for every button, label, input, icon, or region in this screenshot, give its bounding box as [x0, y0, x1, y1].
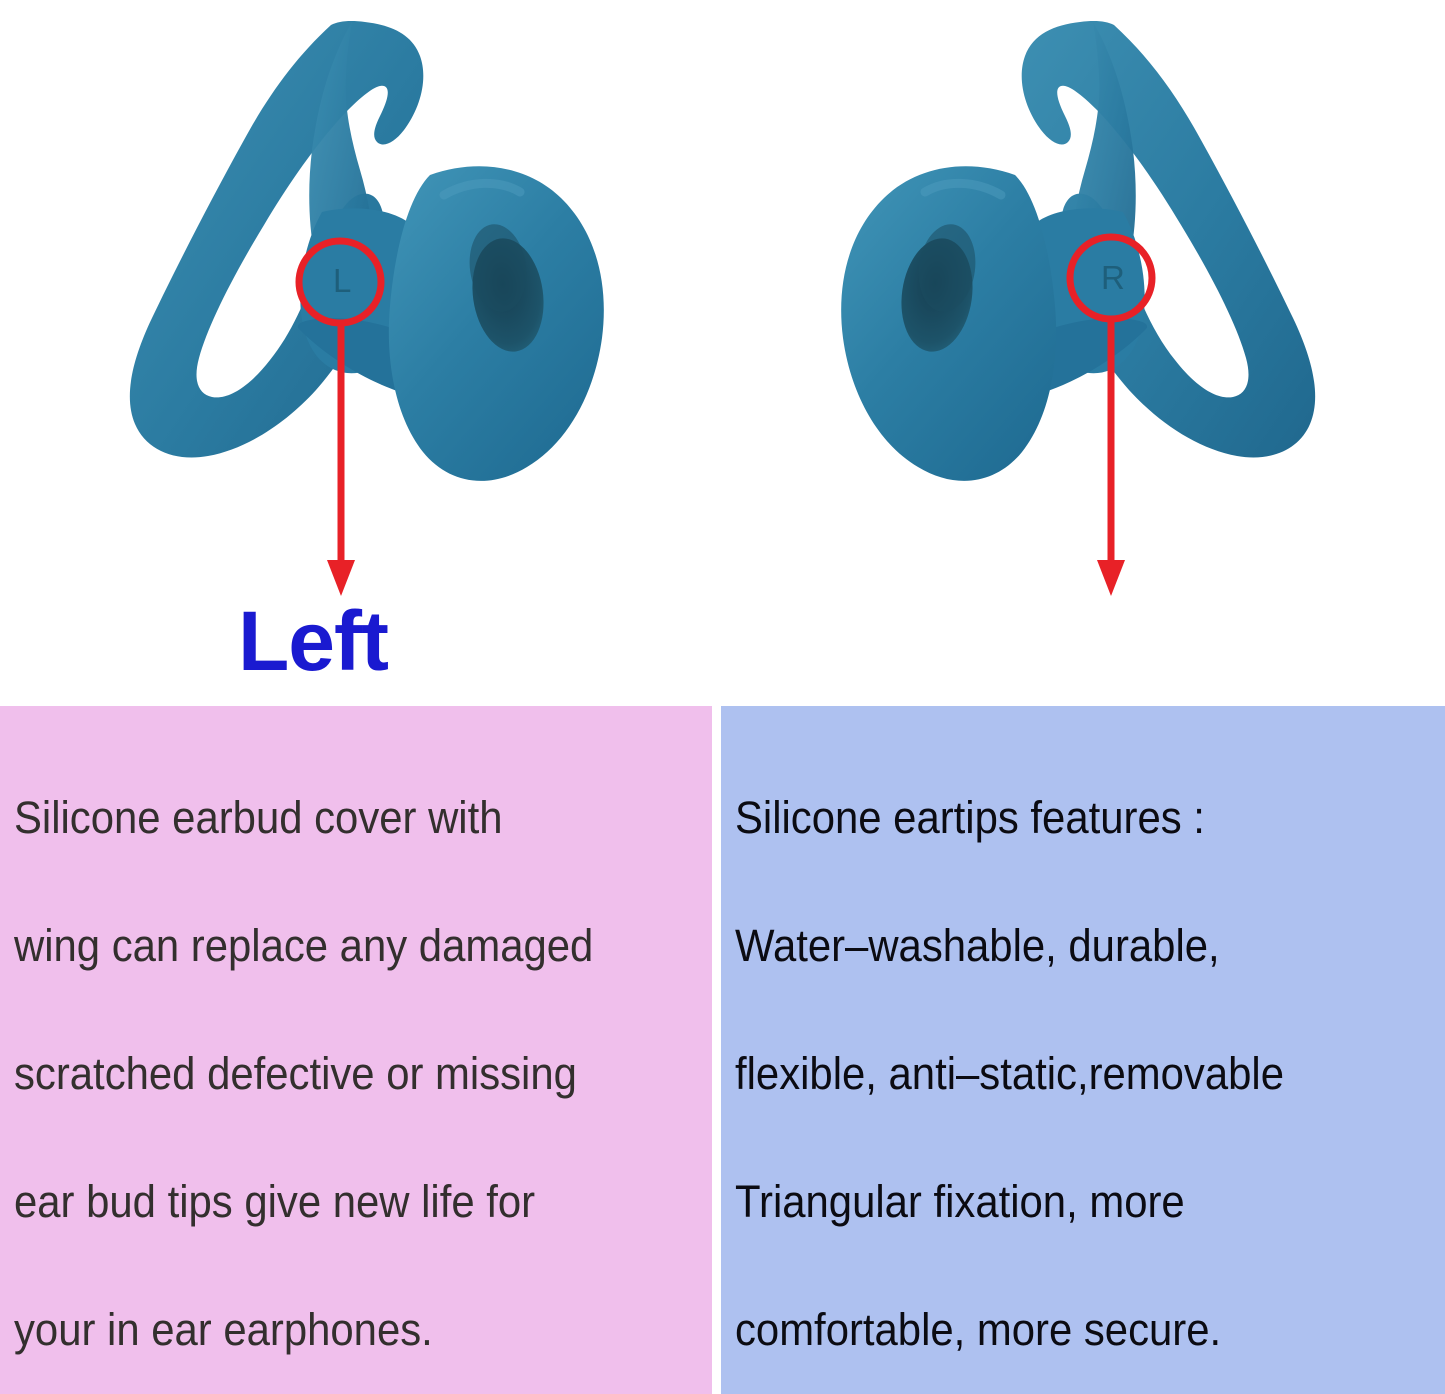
left-description-line-2: wing can replace any damaged — [14, 882, 650, 1010]
left-marker-glyph: L — [333, 262, 351, 299]
right-earbud-illustration: R — [723, 0, 1445, 706]
left-label: Left — [0, 596, 674, 686]
description-panels: Silicone earbud cover with wing can repl… — [0, 706, 1445, 1394]
left-description-line-1: Silicone earbud cover with — [14, 754, 650, 882]
left-description-line-4: ear bud tips give new life for — [14, 1138, 650, 1266]
product-photo-area: L Left — [0, 0, 1445, 706]
right-description-line-5: comfortable, more secure. — [735, 1266, 1382, 1394]
left-eartip-dome — [389, 166, 604, 481]
right-description-line-2: Water–washable, durable, — [735, 882, 1382, 1010]
right-label: Right — [1421, 596, 1445, 686]
right-description-line-3: flexible, anti–static,removable — [735, 1010, 1382, 1138]
panel-divider — [712, 706, 721, 1394]
right-description-line-1: Silicone eartips features : — [735, 754, 1382, 882]
right-eartip-dome — [841, 166, 1056, 481]
right-pointer-arrowhead — [1097, 560, 1125, 596]
right-earbud-stage: R Right — [723, 0, 1445, 706]
right-description-panel: Silicone eartips features : Water–washab… — [721, 706, 1445, 1394]
right-marker-glyph: R — [1101, 259, 1125, 296]
left-description-line-3: scratched defective or missing — [14, 1010, 650, 1138]
left-pointer-arrowhead — [327, 560, 355, 596]
right-description-line-4: Triangular fixation, more — [735, 1138, 1382, 1266]
left-description-panel: Silicone earbud cover with wing can repl… — [0, 706, 712, 1394]
left-description-line-5: your in ear earphones. — [14, 1266, 650, 1394]
product-infographic: L Left — [0, 0, 1445, 1394]
left-earbud-stage: L Left — [0, 0, 722, 706]
